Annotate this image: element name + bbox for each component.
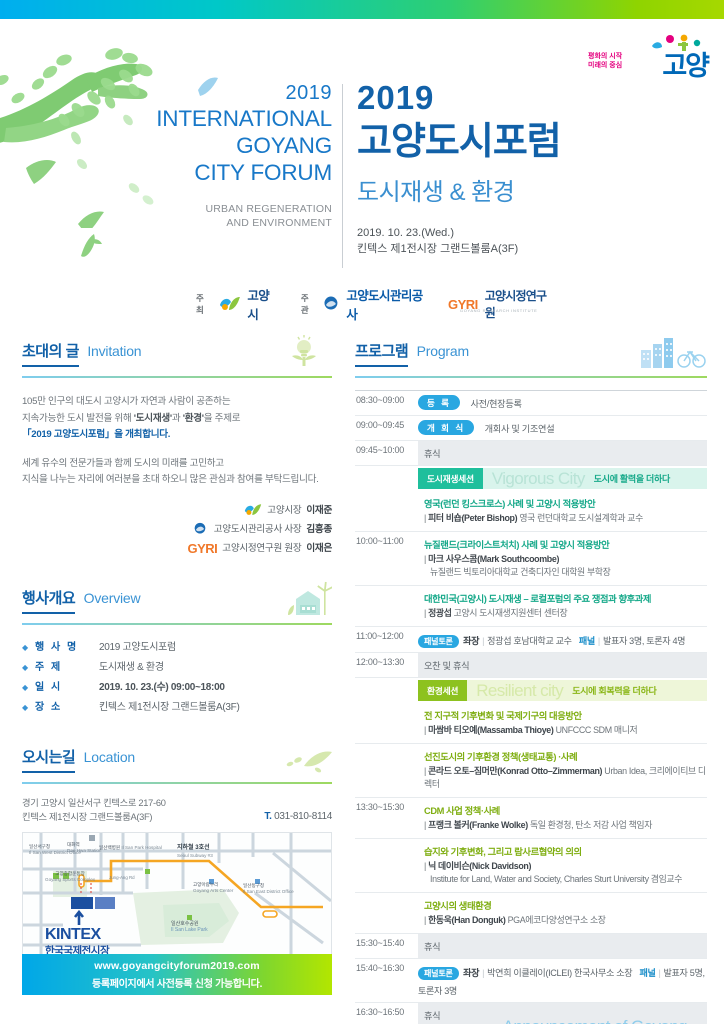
program-time	[355, 893, 418, 933]
overview-key-1: 주 제	[35, 658, 99, 678]
program-break-text: 휴식	[424, 1011, 440, 1021]
program-time: 12:00~13:30	[355, 653, 418, 677]
signer-row: 고양도시관리공사 사장 김흥종	[22, 521, 332, 538]
signer-org-1: 고양도시관리공사 사장	[214, 521, 302, 538]
program-text: 사전/현장등록	[470, 399, 521, 409]
session-tagline-kr: 도시에 활력을 더하다	[594, 472, 670, 485]
location-rule	[22, 782, 332, 784]
left-column: 초대의 글 Invitation 105만 인구의 대도시 고양시가 자연과 사…	[22, 340, 332, 962]
talk-speaker: | 마쌈바 티오예(Massamba Thioye) UNFCCC SDM 매니…	[424, 724, 707, 737]
gyri-name: 고양시정연구원	[485, 287, 556, 321]
overview-row: ◆ 장 소 킨텍스 제1전시장 그랜드볼룸A(3F)	[22, 698, 332, 718]
talk-title: 전 지구적 기후변화 및 국제기구의 대응방안	[424, 709, 707, 723]
program-break-text: 오찬 및 휴식	[424, 661, 469, 671]
program-pill: 개 회 식	[418, 420, 474, 435]
invitation-p1-line3: 「2019 고양도시포럼」을 개최합니다.	[22, 429, 170, 440]
signer-name-2: 이재은	[306, 540, 332, 557]
overview-value-2: 2019. 10. 23.(수) 09:00~18:00	[99, 678, 225, 698]
program-time	[355, 703, 418, 743]
event-venue: 킨텍스 제1전시장 그랜드볼룸A(3F)	[357, 241, 677, 257]
location-map[interactable]: 일산서구청 Il San West District Office 대화역 Da…	[22, 832, 332, 962]
host-name: 고양시	[247, 285, 280, 323]
overview-row: ◆ 주 제 도시재생 & 환경	[22, 658, 332, 678]
invitation-p1-line2c: 을 주제로	[204, 413, 240, 424]
right-column: 프로그램 Program	[355, 340, 707, 1024]
event-date: 2019. 10. 23.(Wed.)	[357, 225, 677, 241]
signer-row: GYRI 고양시정연구원 원장 이재은	[22, 540, 332, 557]
talk-speaker: | 정광섭 고양시 도시재생지원센터 센터장	[424, 607, 707, 620]
map-label-road: Jung-Ang Rd	[109, 875, 135, 880]
speaker-name: 콘라드 오토–짐머만(Konrad Otto–Zimmerman)	[428, 766, 602, 776]
gyri-tagline: GOYANG RESEARCH INSTITUTE	[460, 308, 537, 313]
talk-entry: 영국(런던 킹스크로스) 사례 및 고양시 적용방안 | 피터 비숍(Peter…	[418, 494, 707, 528]
signer-org-2: 고양시정연구원 원장	[222, 540, 301, 557]
session-tag: 도시재생세션	[418, 468, 483, 489]
poster-root: 2019 INTERNATIONAL GOYANG CITY FORUM URB…	[0, 0, 724, 1024]
invitation-p1-line1: 105만 인구의 대도시 고양시가 자연과 사람이 공존하는	[22, 396, 230, 407]
city-bicycle-icon	[635, 334, 707, 370]
program-talk-row: 13:30~15:30 CDM 사업 정책·사례 | 프랭크 볼커(Franke…	[355, 798, 707, 839]
program-break-row: 12:00~13:30 오찬 및 휴식	[355, 653, 707, 678]
session-title-en: Vigorous City	[492, 469, 585, 489]
header-left-subtitle-2: AND ENVIRONMENT	[150, 216, 332, 230]
program-break-row: 09:45~10:00 휴식	[355, 441, 707, 466]
logo-slogan-line1: 평화의 시작	[588, 53, 622, 60]
talk-speaker: | 마크 사우스콤(Mark Southcoombe) 뉴질랜드 빅토리아대학교…	[424, 553, 707, 579]
panel-members: 발표자 3명, 토론자 4명	[603, 636, 685, 646]
bullet-icon: ◆	[22, 698, 35, 718]
registration-note: 등록페이지에서 사전등록 신청 가능합니다.	[22, 975, 332, 990]
overview-list: ◆ 행 사 명 2019 고양도시포럼 ◆ 주 제 도시재생 & 환경 ◆ 일 …	[22, 638, 332, 718]
talk-entry: CDM 사업 정책·사례 | 프랭크 볼커(Franke Wolke) 독일 환…	[418, 801, 707, 835]
tel-number: 031-810-8114	[274, 811, 332, 822]
talk-title: 선진도시의 기후환경 정책(생태교통) ·사례	[424, 750, 707, 764]
program-time: 11:00~12:00	[355, 627, 418, 652]
map-label-subway: 지하철 3호선 Seoul Subway #3	[177, 844, 213, 860]
program-session-row: 환경세션 Resilient city 도시에 회복력을 더하다	[355, 678, 707, 703]
overview-section-header: 행사개요 Overview	[22, 587, 332, 621]
logo-slogan: 평화의 시작 미래의 중심	[588, 52, 622, 70]
program-title-kr: 프로그램	[355, 340, 408, 367]
talk-title: 뉴질랜드(크라이스트처치) 사례 및 고양시 적용방안	[424, 538, 707, 552]
overview-key-2: 일 시	[35, 678, 99, 698]
location-address-line2: 킨텍스 제1전시장 그랜드볼룸A(3F)	[22, 810, 166, 825]
invitation-section-header: 초대의 글 Invitation	[22, 340, 332, 374]
program-row: 09:00~09:45 개 회 식 개회사 및 기조연설	[355, 416, 707, 441]
program-title-en: Program	[417, 343, 469, 359]
overview-rule	[22, 623, 332, 625]
program-table: 08:30~09:00 등 록 사전/현장등록 09:00~09:45 개 회 …	[355, 390, 707, 1024]
speaker-affiliation: UNFCCC SDM 매니저	[554, 725, 638, 735]
invitation-p2-line2: 지식을 나누는 자리에 여러분을 초대 하오니 많은 관심과 참여를 부탁드립니…	[22, 474, 319, 485]
speaker-name: 닉 데이비슨(Nick Davidson)	[428, 861, 531, 871]
overview-title-kr: 행사개요	[22, 587, 75, 614]
invitation-body: 105만 인구의 대도시 고양시가 자연과 사람이 공존하는 지속가능한 도시 …	[22, 394, 332, 489]
program-panel-row: 11:00~12:00 패널토론 좌장|정광섭 호남대학교 교수 패널|발표자 …	[355, 627, 707, 653]
program-time	[355, 586, 418, 626]
location-title-en: Location	[84, 749, 135, 765]
panel-chair: 박연희 이클레이(ICLEI) 한국사무소 소장	[487, 968, 632, 978]
invitation-signoff: 고양시장 이재준 고양도시관리공사 사장 김흥종 GYRI 고양시정연구원 원장…	[22, 502, 332, 557]
talk-speaker: | 닉 데이비슨(Nick Davidson) Institute for La…	[424, 860, 707, 886]
location-title-kr: 오시는길	[22, 746, 75, 773]
speaker-name: 한동욱(Han Donguk)	[428, 915, 505, 925]
eco-house-windmill-icon	[274, 581, 332, 617]
organizer-name: 고양도시관리공사	[346, 285, 433, 323]
talk-speaker: | 콘라드 오토–짐머만(Konrad Otto–Zimmerman) Urba…	[424, 765, 707, 791]
overview-key-0: 행 사 명	[35, 638, 99, 658]
overview-value-3: 킨텍스 제1전시장 그랜드볼룸A(3F)	[99, 698, 240, 718]
speaker-name: 마쌈바 티오예(Massamba Thioye)	[428, 725, 553, 735]
goyang-city-logo: 평화의 시작 미래의 중심 고양	[586, 34, 708, 90]
speaker-affiliation: 독일 환경청, 탄소 저감 사업 책임자	[528, 820, 652, 830]
map-label-arts: 고양아람누리 Goyang Arts Center	[193, 882, 233, 894]
program-row: 08:30~09:00 등 록 사전/현장등록	[355, 391, 707, 416]
tel-label: T.	[264, 811, 271, 822]
panel-chair: 정광섭 호남대학교 교수	[487, 636, 572, 646]
program-break-text: 휴식	[424, 942, 440, 952]
program-talk-row: 전 지구적 기후변화 및 국제기구의 대응방안 | 마쌈바 티오예(Massam…	[355, 703, 707, 744]
overview-row: ◆ 일 시 2019. 10. 23.(수) 09:00~18:00	[22, 678, 332, 698]
speaker-name: 프랭크 볼커(Franke Wolke)	[428, 820, 528, 830]
program-time: 10:00~11:00	[355, 532, 418, 585]
foliage-decoration-icon	[274, 740, 332, 776]
header-right-title-kr: 고양도시포럼	[357, 118, 677, 166]
program-talk-row: 대한민국(고양시) 도시재생 – 로컬포럼의 주요 쟁점과 향후과제 | 정광섭…	[355, 586, 707, 627]
program-rule	[355, 376, 707, 378]
map-label-east-office: 일산동구청 Il San East District Office	[243, 883, 294, 895]
registration-banner[interactable]: www.goyangcityforum2019.com 등록페이지에서 사전등록…	[22, 954, 332, 995]
program-section-header: 프로그램 Program	[355, 340, 707, 374]
program-time	[355, 491, 418, 531]
talk-entry: 선진도시의 기후환경 정책(생태교통) ·사례 | 콘라드 오토–짐머만(Kon…	[418, 747, 707, 794]
gucs-mark-icon	[191, 522, 209, 536]
invitation-p1-line2a: 지속가능한 도시 발전을 위해	[22, 413, 134, 424]
panel-chair-label: 좌장	[463, 636, 479, 646]
invitation-rule	[22, 376, 332, 378]
session-tagline-kr: 도시에 회복력을 더하다	[572, 684, 656, 697]
talk-entry: 대한민국(고양시) 도시재생 – 로컬포럼의 주요 쟁점과 향후과제 | 정광섭…	[418, 589, 707, 623]
talk-title: 습지와 기후변화, 그리고 람사르협약의 의의	[424, 845, 707, 859]
overview-key-3: 장 소	[35, 698, 99, 718]
signer-name-1: 김흥종	[306, 521, 332, 538]
overview-value-1: 도시재생 & 환경	[99, 658, 164, 678]
program-talk-row: 영국(런던 킹스크로스) 사례 및 고양시 적용방안 | 피터 비숍(Peter…	[355, 491, 707, 532]
invitation-keyword-regen: '도시재생'	[134, 413, 172, 424]
lightbulb-plant-icon	[274, 334, 332, 370]
header-left-title: 2019 INTERNATIONAL GOYANG CITY FORUM URB…	[150, 82, 332, 230]
map-label-lake: 일산호수공원 Il San Lake Park	[171, 921, 208, 934]
program-talk-row: 10:00~11:00 뉴질랜드(크라이스트처치) 사례 및 고양시 적용방안 …	[355, 532, 707, 586]
invitation-p1-line2b: 과	[172, 413, 183, 424]
map-label-kintex-en: KINTEX	[45, 926, 101, 944]
bird-icon	[26, 160, 56, 184]
location-section-header: 오시는길 Location	[22, 746, 332, 780]
bullet-icon: ◆	[22, 678, 35, 698]
talk-speaker: | 프랭크 볼커(Franke Wolke) 독일 환경청, 탄소 저감 사업 …	[424, 819, 707, 832]
logo-wordmark: 고양	[662, 44, 708, 83]
session-banner-vigorous: 도시재생세션 Vigorous City 도시에 활력을 더하다	[418, 468, 707, 489]
program-panel-row: 15:40~16:30 패널토론 좌장|박연희 이클레이(ICLEI) 한국사무…	[355, 959, 707, 1003]
talk-title: CDM 사업 정책·사례	[424, 804, 707, 818]
program-pill: 등 록	[418, 395, 460, 410]
signer-org-0: 고양시장	[267, 502, 301, 519]
talk-speaker: | 한동욱(Han Donguk) PGA에코다양성연구소 소장	[424, 914, 707, 927]
bullet-icon: ◆	[22, 658, 35, 678]
location-address: 경기 고양시 일산서구 킨텍스로 217-60 킨텍스 제1전시장 그랜드볼룸A…	[22, 796, 332, 825]
program-break-row: 15:30~15:40 휴식	[355, 934, 707, 959]
speaker-affiliation: PGA에코다양성연구소 소장	[506, 915, 606, 925]
panel-chair-label: 좌장	[463, 968, 479, 978]
program-time: 16:30~16:50	[355, 1003, 418, 1024]
speaker-name: 마크 사우스콤(Mark Southcoombe)	[428, 554, 559, 564]
overview-value-0: 2019 고양도시포럼	[99, 638, 176, 658]
panel-pill: 패널토론	[418, 967, 459, 980]
program-time: 08:30~09:00	[355, 391, 418, 415]
session-tag: 환경세션	[418, 680, 467, 701]
overview-row: ◆ 행 사 명 2019 고양도시포럼	[22, 638, 332, 658]
signer-row: 고양시장 이재준	[22, 502, 332, 519]
header-left-line-3: CITY FORUM	[150, 160, 332, 186]
map-label-daehwa: 대화역 Dae Hwa Station	[67, 842, 101, 854]
panel-pill: 패널토론	[418, 635, 459, 648]
session-title-en: Resilient city	[476, 681, 563, 701]
header-left-subtitle-1: URBAN REGENERATION	[150, 202, 332, 216]
program-talk-row: 선진도시의 기후환경 정책(생태교통) ·사례 | 콘라드 오토–짐머만(Kon…	[355, 744, 707, 798]
logo-slogan-line2: 미래의 중심	[588, 62, 622, 69]
speaker-name: 피터 비숍(Peter Bishop)	[428, 513, 517, 523]
bird-icon	[78, 212, 104, 229]
header-left-line-1: INTERNATIONAL	[150, 106, 332, 132]
speaker-affiliation: 뉴질랜드 빅토리아대학교 건축디자인 대학원 부학장	[424, 566, 707, 579]
registration-url[interactable]: www.goyangcityforum2019.com	[22, 960, 332, 972]
header-right-subtitle-kr: 도시재생 & 환경	[357, 172, 677, 207]
talk-speaker: | 피터 비숍(Peter Bishop) 영국 런던대학교 도시설계학과 교수	[424, 512, 707, 525]
invitation-title-en: Invitation	[87, 343, 141, 359]
program-time	[355, 466, 418, 491]
location-telephone: T. 031-810-8114	[264, 810, 332, 825]
talk-entry: 뉴질랜드(크라이스트처치) 사례 및 고양시 적용방안 | 마크 사우스콤(Ma…	[418, 535, 707, 582]
invitation-keyword-env: '환경'	[183, 413, 204, 424]
program-time	[355, 744, 418, 797]
overview-title-en: Overview	[84, 590, 141, 606]
speaker-affiliation: 고양시 도시재생지원센터 센터장	[452, 608, 568, 618]
goyang-mark-icon	[219, 296, 241, 312]
program-time: 13:30~15:30	[355, 798, 418, 838]
header-divider	[342, 84, 343, 268]
map-label-sports: 고양종합운동장 Goyang Sports Complex	[45, 871, 95, 883]
session-title-en: Announcement of Goyang Agenda	[503, 1017, 707, 1024]
gucs-mark-icon	[323, 296, 339, 312]
program-time: 15:40~16:30	[355, 959, 418, 1002]
program-time: 09:00~09:45	[355, 416, 418, 440]
location-address-line1: 경기 고양시 일산서구 킨텍스로 217-60	[22, 796, 166, 811]
talk-title: 대한민국(고양시) 도시재생 – 로컬포럼의 주요 쟁점과 향후과제	[424, 592, 707, 606]
speaker-affiliation: 영국 런던대학교 도시설계학과 교수	[517, 513, 643, 523]
program-break-text: 휴식	[424, 449, 440, 459]
program-session-row: 도시재생세션 Vigorous City 도시에 활력을 더하다	[355, 466, 707, 491]
invitation-p2-line1: 세계 유수의 전문가들과 함께 도시의 미래를 고민하고	[22, 458, 224, 469]
talk-entry: 전 지구적 기후변화 및 국제기구의 대응방안 | 마쌈바 티오예(Massam…	[418, 706, 707, 740]
signer-name-0: 이재준	[306, 502, 332, 519]
bullet-icon: ◆	[22, 638, 35, 658]
map-label-hospital: 일산백병원 Il San Park Hospital	[99, 845, 162, 851]
header-right-title: 2019 고양도시포럼 도시재생 & 환경 2019. 10. 23.(Wed.…	[357, 80, 677, 257]
talk-title: 영국(런던 킹스크로스) 사례 및 고양시 적용방안	[424, 497, 707, 511]
host-label: 주최	[196, 292, 212, 316]
organizer-label: 주관	[301, 292, 317, 316]
top-gradient-bar	[0, 0, 724, 19]
program-time	[355, 839, 418, 892]
signer-abbr-2: GYRI	[188, 540, 218, 557]
invitation-title-kr: 초대의 글	[22, 340, 79, 367]
bird-icon	[78, 232, 104, 258]
program-talk-row: 습지와 기후변화, 그리고 람사르협약의 의의 | 닉 데이비슨(Nick Da…	[355, 839, 707, 893]
speaker-affiliation: Institute for Land, Water and Society, C…	[424, 873, 707, 886]
speaker-name: 정광섭	[428, 608, 451, 618]
talk-entry: 습지와 기후변화, 그리고 람사르협약의 의의 | 닉 데이비슨(Nick Da…	[418, 842, 707, 889]
talk-entry: 고양시의 생태환경 | 한동욱(Han Donguk) PGA에코다양성연구소 …	[418, 896, 707, 930]
session-banner-resilient: 환경세션 Resilient city 도시에 회복력을 더하다	[418, 680, 707, 701]
panel-label: 패널	[579, 636, 595, 646]
header-left-year: 2019	[150, 82, 332, 105]
header-left-line-2: GOYANG	[150, 133, 332, 159]
program-time: 09:45~10:00	[355, 441, 418, 465]
goyang-mark-icon	[244, 503, 262, 517]
panel-label: 패널	[639, 968, 655, 978]
program-time	[355, 678, 418, 703]
program-text: 개회사 및 기조연설	[485, 424, 555, 434]
talk-title: 고양시의 생태환경	[424, 899, 707, 913]
program-time: 15:30~15:40	[355, 934, 418, 958]
program-talk-row: 고양시의 생태환경 | 한동욱(Han Donguk) PGA에코다양성연구소 …	[355, 893, 707, 934]
